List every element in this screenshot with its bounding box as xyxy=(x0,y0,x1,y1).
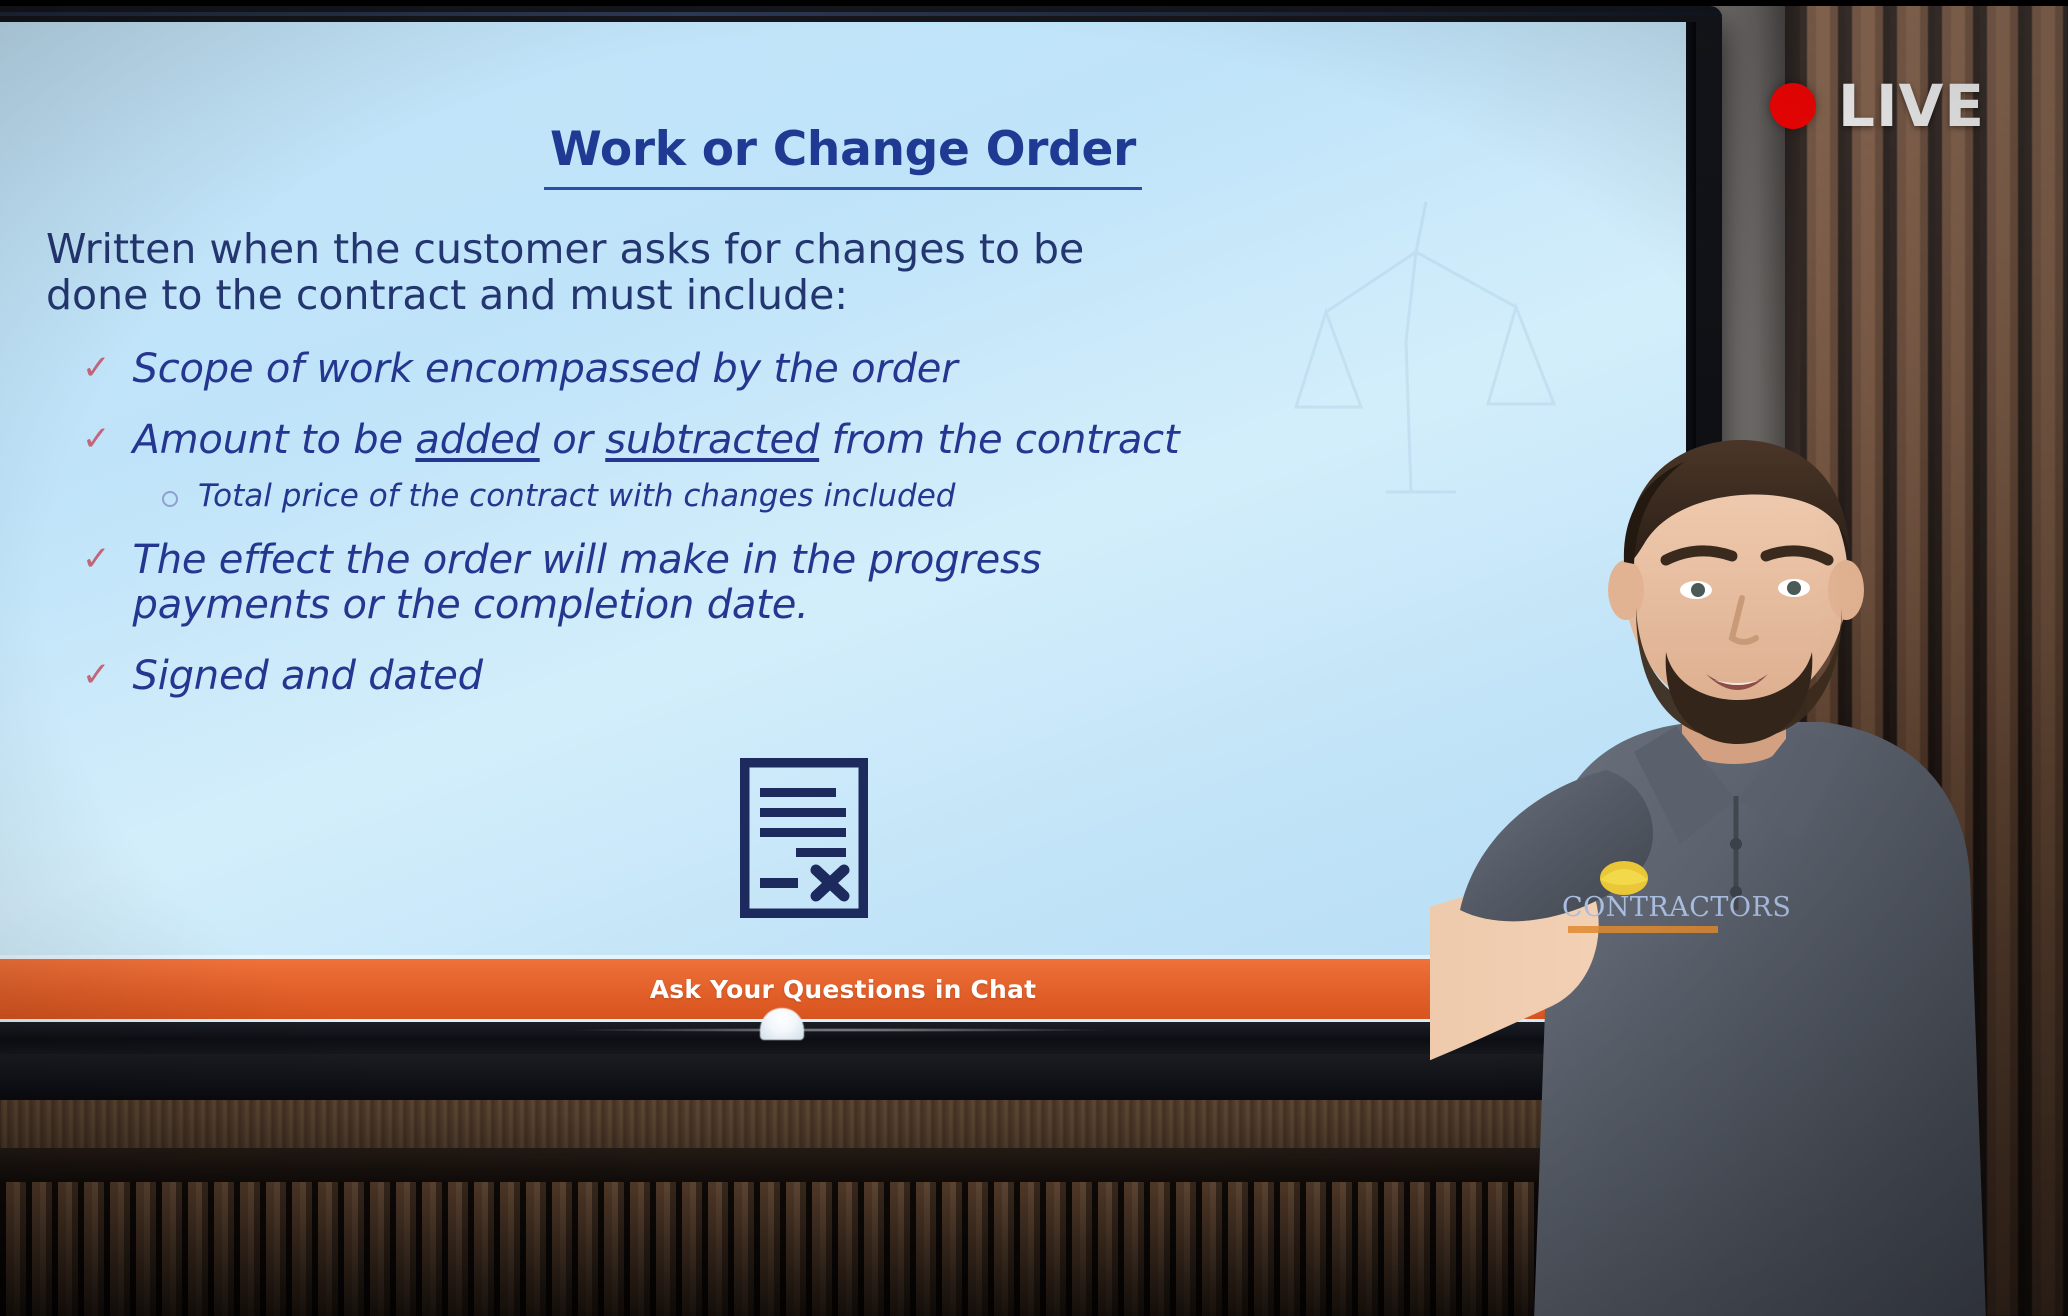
bullet-item-scope: ✓ Scope of work encompassed by the order xyxy=(82,347,1212,392)
checkmark-icon: ✓ xyxy=(82,351,111,385)
slide-intro-text: Written when the customer asks for chang… xyxy=(46,227,1166,319)
checkmark-icon: ✓ xyxy=(82,542,111,576)
slide-bullet-list: ✓ Scope of work encompassed by the order… xyxy=(82,347,1212,725)
tv-bezel-highlight xyxy=(0,12,1722,16)
svg-text:CONTRACTORS: CONTRACTORS xyxy=(1562,892,1791,923)
bullet-text-signed: Signed and dated xyxy=(133,654,483,699)
bullet-text-effect: The effect the order will make in the pr… xyxy=(133,538,1213,628)
checkmark-icon: ✓ xyxy=(82,422,111,456)
bullet-text-amount: Amount to be added or subtracted from th… xyxy=(133,418,1180,463)
bullet-amount-added: added xyxy=(415,417,539,463)
slide-title-text: Work or Change Order xyxy=(544,122,1142,190)
bullet-item-signed: ✓ Signed and dated xyxy=(82,654,1212,699)
bullet-signed-label: Signed and dated xyxy=(133,653,483,699)
bullet-amount-subtracted: subtracted xyxy=(605,417,819,463)
live-badge: LIVE xyxy=(1770,72,1985,140)
live-recording-dot-icon xyxy=(1770,83,1816,129)
tv-bezel-sheen xyxy=(560,1028,1120,1032)
letterbox-top xyxy=(0,0,2068,6)
presenter-person: CONTRACTORS xyxy=(1430,440,2068,1316)
broadcast-stage: Work or Change Order Written when the cu… xyxy=(0,0,2068,1316)
slide-title: Work or Change Order xyxy=(0,122,1686,177)
banner-label: Ask Your Questions in Chat xyxy=(650,975,1037,1004)
bullet-text-scope: Scope of work encompassed by the order xyxy=(133,347,958,392)
bullet-item-amount: ✓ Amount to be added or subtracted from … xyxy=(82,418,1212,463)
bullet-scope-label: Scope of work encompassed by the order xyxy=(133,346,958,392)
bullet-amount-suffix: from the contract xyxy=(819,417,1179,463)
bullet-item-effect: ✓ The effect the order will make in the … xyxy=(82,538,1212,628)
live-label: LIVE xyxy=(1838,72,1985,140)
checkmark-icon: ✓ xyxy=(82,658,111,692)
bullet-effect-label: The effect the order will make in the pr… xyxy=(133,537,1042,628)
contract-document-icon xyxy=(740,758,868,918)
sub-bullet-total-price: Total price of the contract with changes… xyxy=(162,479,1212,515)
bullet-amount-conjunction: or xyxy=(540,417,606,463)
bullet-amount-prefix: Amount to be xyxy=(133,417,416,463)
hollow-circle-icon xyxy=(162,491,178,507)
sub-bullet-text: Total price of the contract with changes… xyxy=(198,479,955,515)
